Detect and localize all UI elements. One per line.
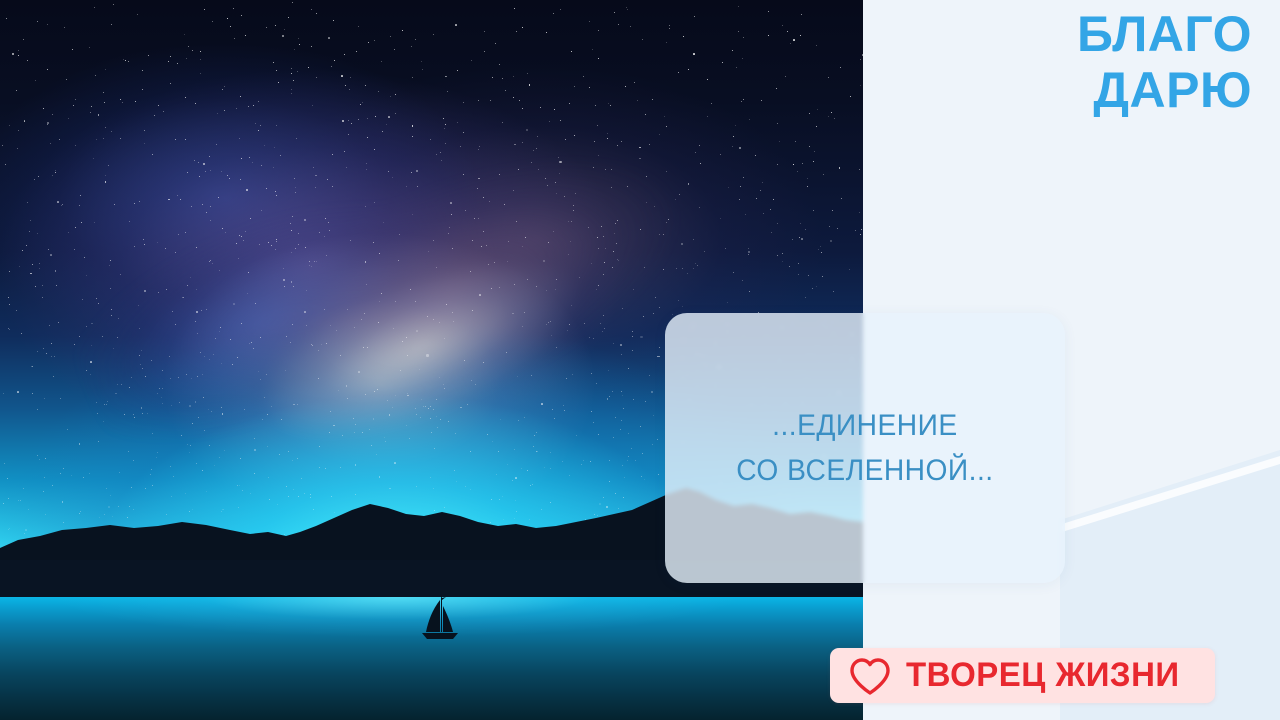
page-title-line-2: ДАРЮ xyxy=(792,62,1252,118)
brand-badge[interactable]: ТВОРЕЦ ЖИЗНИ xyxy=(830,648,1215,703)
heart-outline-icon xyxy=(848,656,892,696)
quote-card: ...ЕДИНЕНИЕ СО ВСЕЛЕННОЙ... xyxy=(665,313,1065,583)
slide-canvas: ...ЕДИНЕНИЕ СО ВСЕЛЕННОЙ... БЛАГО ДАРЮ Т… xyxy=(0,0,1280,720)
page-title-line-1: БЛАГО xyxy=(792,6,1252,62)
sailboat-silhouette xyxy=(418,592,466,648)
quote-text: ...ЕДИНЕНИЕ СО ВСЕЛЕННОЙ... xyxy=(719,403,1010,493)
page-title: БЛАГО ДАРЮ xyxy=(792,6,1252,118)
brand-label: ТВОРЕЦ ЖИЗНИ xyxy=(906,656,1180,695)
